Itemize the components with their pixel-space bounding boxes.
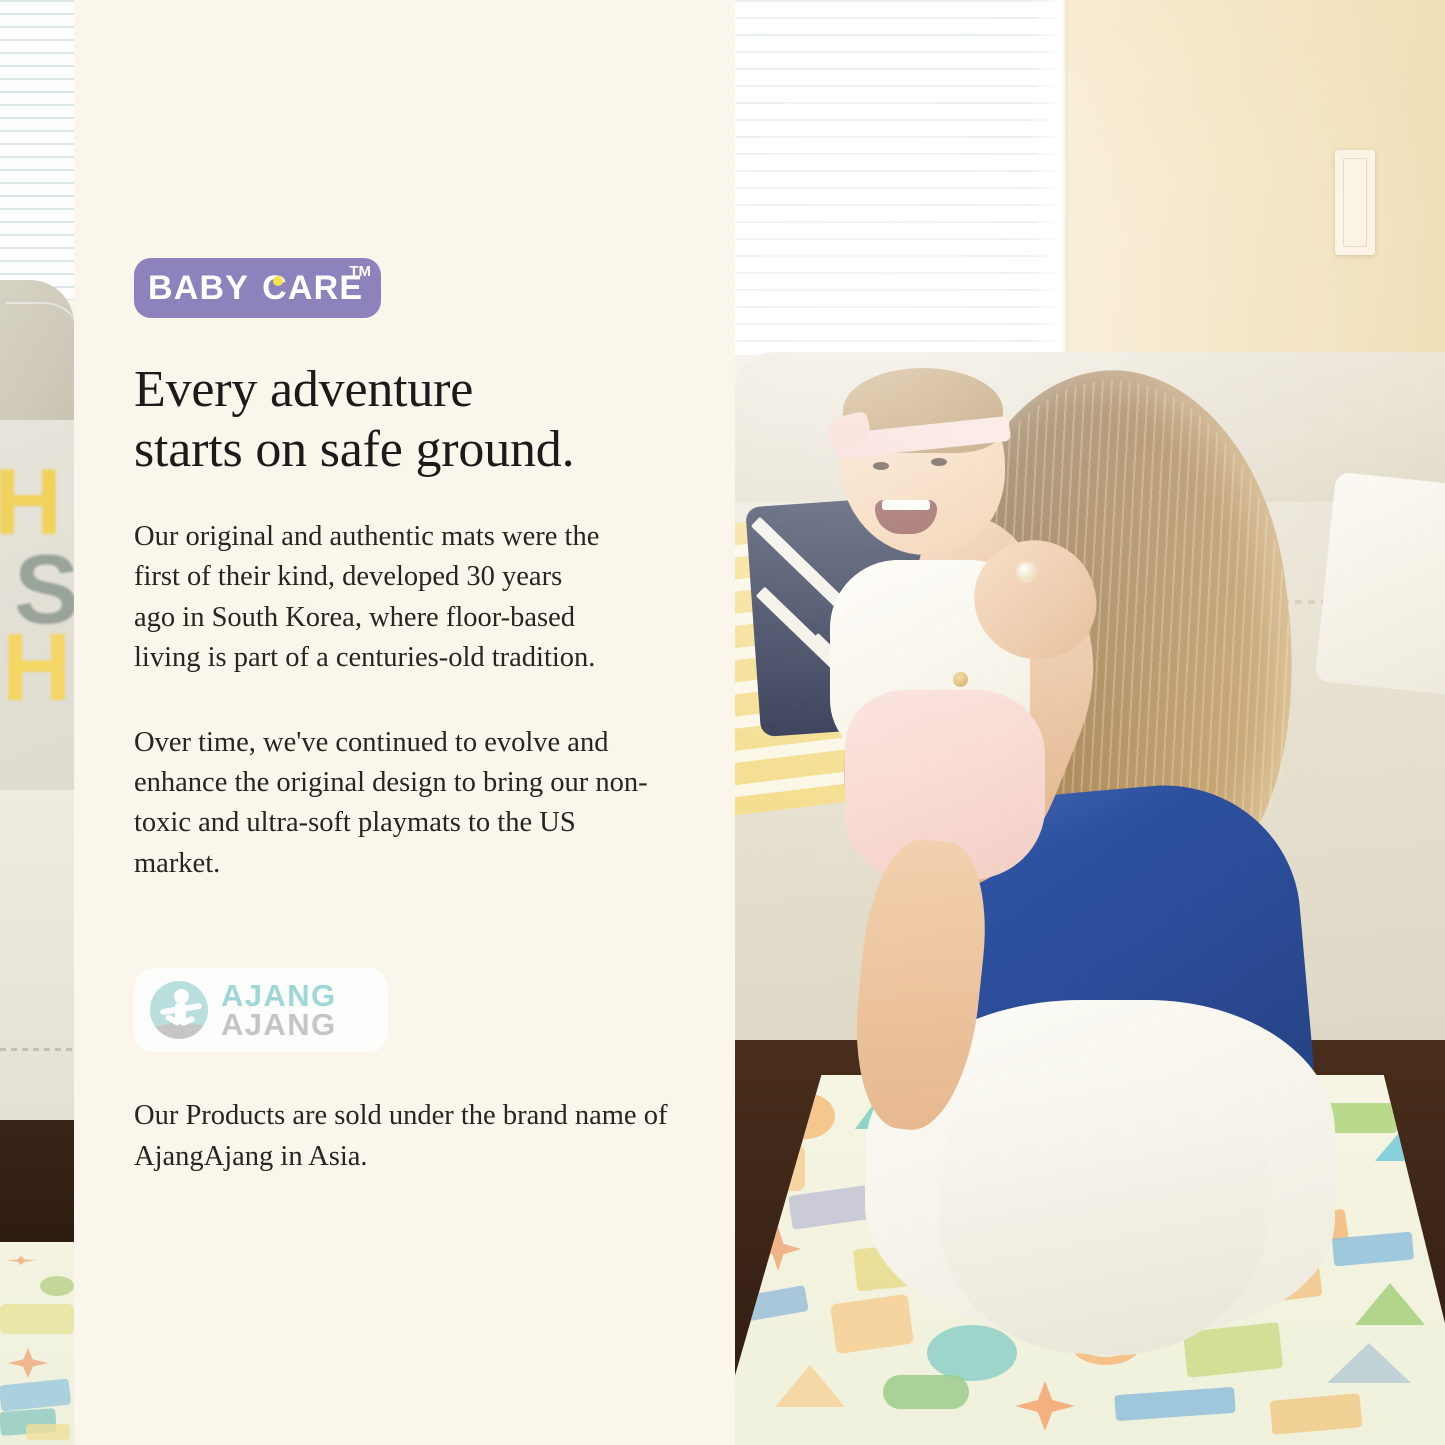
content-panel: BABY C ARE TM Every adventure starts on … xyxy=(74,0,735,1445)
logo-word-baby: BABY xyxy=(148,269,249,308)
left-photo-strip: H S H xyxy=(0,0,74,1445)
paragraph-sold-under: Our Products are sold under the brand na… xyxy=(134,1096,674,1177)
logo-letter-c-wrap: C xyxy=(262,269,288,308)
logo-c-dot-icon xyxy=(273,276,283,286)
headline-line-1: Every adventure xyxy=(134,361,473,418)
ajang-word-top: AJANG xyxy=(221,981,337,1010)
window-light-glow xyxy=(735,0,1445,1445)
child-figure-icon xyxy=(150,981,208,1039)
figure-head xyxy=(174,989,189,1004)
logo-letter-c: C xyxy=(262,269,288,307)
lifestyle-photo xyxy=(735,0,1445,1445)
ajang-ajang-logo: AJANG AJANG xyxy=(134,968,388,1052)
playmat-sliver xyxy=(0,1242,74,1445)
paragraph-evolution: Over time, we've continued to evolve and… xyxy=(134,723,659,885)
hill-shape xyxy=(150,1023,208,1039)
ajang-wordmark: AJANG AJANG xyxy=(221,981,337,1039)
ajang-word-bottom: AJANG xyxy=(221,1010,337,1039)
paragraph-origin: Our original and authentic mats were the… xyxy=(134,517,609,679)
page-title: Every adventure starts on safe ground. xyxy=(134,360,714,481)
poster-canvas: H S H xyxy=(0,0,1445,1445)
content-column: BABY C ARE TM Every adventure starts on … xyxy=(134,258,714,1177)
headline-line-2: starts on safe ground. xyxy=(134,421,574,478)
pillow-letter-h2-icon: H xyxy=(2,620,71,716)
trademark-symbol: TM xyxy=(349,263,371,280)
sofa-stitch-seam xyxy=(0,1048,74,1051)
sofa-seat-sliver xyxy=(0,790,74,1120)
window-blinds-sliver xyxy=(0,0,74,300)
baby-care-logo-text: BABY C ARE xyxy=(148,269,363,308)
baby-care-logo-badge: BABY C ARE TM xyxy=(134,258,381,318)
